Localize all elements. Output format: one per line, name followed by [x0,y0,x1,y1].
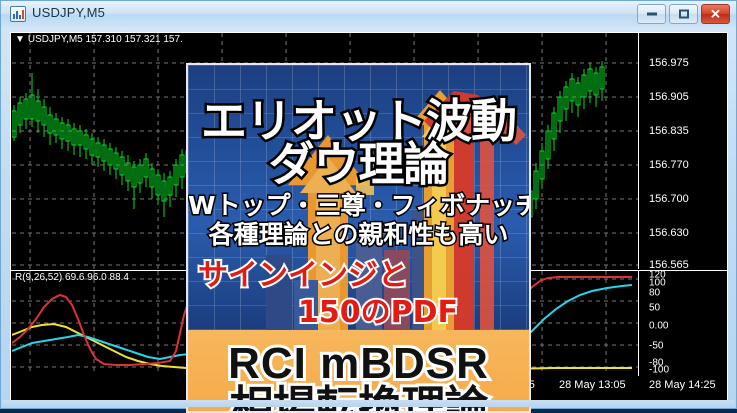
mt4-chart-window: USDJPY,M5 ✕ [0,0,737,409]
maximize-button[interactable] [669,4,698,24]
indicator-tick: -50 [649,341,663,352]
price-tick: 156.835 [649,125,689,137]
promo-line-4: 各種理論との親和性も高い [188,222,529,247]
price-tick: 156.975 [649,57,689,69]
status-bar [2,400,735,407]
window-controls: ✕ [637,4,730,25]
indicator-tick: 0.00 [649,321,668,332]
title-bar: USDJPY,M5 ✕ [1,1,736,27]
chevron-down-icon[interactable]: ▼ [15,34,25,45]
close-icon: ✕ [710,8,721,21]
promo-line-6: 150のPDF [298,298,458,328]
promo-top-section: エリオット波動 ダウ理論 Wトップ・三尊・フィボナッチ 各種理論との親和性も高い… [188,65,529,330]
promo-overlay[interactable]: エリオット波動 ダウ理論 Wトップ・三尊・フィボナッチ 各種理論との親和性も高い… [186,63,531,413]
price-tick: 156.770 [649,159,689,171]
indicator-tick: 50 [649,303,660,314]
minimize-button[interactable] [637,4,666,24]
chart-app-icon [10,6,26,22]
price-tick: 156.905 [649,91,689,103]
promo-bottom-section: RCI mBDSR 相場転換理論 [188,330,529,411]
chart-client-area[interactable]: ▼USDJPY,M5 157.310 157.321 157. 156.975 … [10,32,728,401]
close-button[interactable]: ✕ [701,4,730,24]
indicator-tick: -100 [649,365,669,376]
price-axis: 156.975 156.905 156.835 156.770 156.700 … [639,33,727,269]
chart-symbol-header: ▼USDJPY,M5 157.310 157.321 157. [15,34,183,45]
promo-bottom-line-1: RCI mBDSR [188,342,529,386]
indicator-axis: 120 100 80 50 0.00 -50 -80 -100 [639,271,727,376]
price-tick: 156.700 [649,193,689,205]
price-tick: 156.630 [649,227,689,239]
promo-line-3: Wトップ・三尊・フィボナッチ [188,193,529,218]
promo-line-2: ダウ理論 [188,141,529,187]
price-tick: 156.565 [649,259,689,269]
indicator-header: R(9,26,52) 69.6 96.0 88.4 [15,272,129,283]
chart-header-text: USDJPY,M5 157.310 157.321 157. [28,34,183,45]
indicator-tick: 80 [649,288,660,299]
window-title: USDJPY,M5 [32,5,105,20]
promo-line-5: サインインジと [198,261,408,291]
